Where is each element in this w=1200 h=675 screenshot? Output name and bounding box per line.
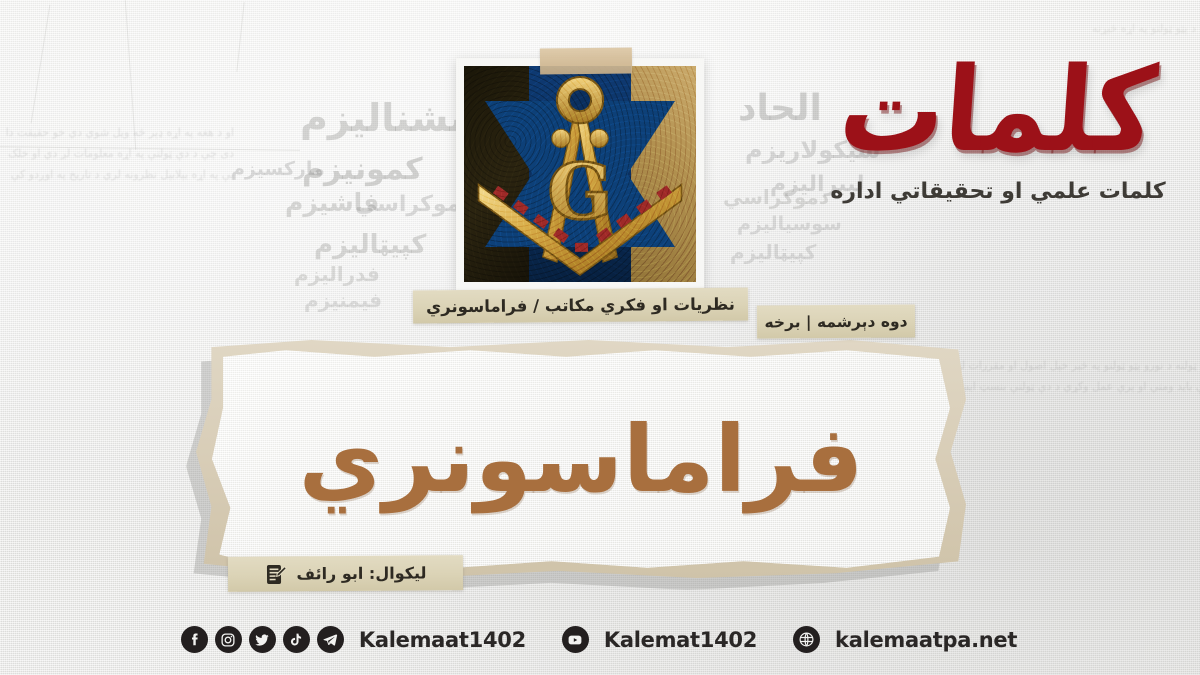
brand-tagline: كلمات علمي او تحقيقاتي اداره	[830, 179, 1165, 204]
watermark-word-left-1: کمونیزم	[302, 152, 423, 187]
watermark-word-left-7: فیمنیزم	[304, 288, 382, 312]
watermark-word-right-5: کپیټالیزم	[730, 240, 816, 264]
part-number-text: دوه دېرشمه | برخه	[764, 312, 907, 331]
paper-scratch-4	[0, 146, 300, 151]
social-bar: Kalemaat1402Kalemat1402kalemaatpa.net	[0, 626, 1200, 653]
brand-logo-mark: كلمات	[836, 49, 1161, 171]
social-handle-0[interactable]: Kalemaat1402	[359, 628, 526, 652]
watermark-word-left-5: کپیټالیزم	[314, 230, 426, 260]
social-group-1: Kalemat1402	[562, 626, 759, 653]
social-handle-1[interactable]: Kalemat1402	[604, 628, 757, 652]
part-number-strip: دوه دېرشمه | برخه	[757, 304, 915, 338]
poster-canvas: او د هغه په اړه ډېر څه ویل شوي دي خو حقی…	[0, 0, 1200, 675]
paper-scratch-1	[31, 5, 51, 124]
paper-scratch-3	[236, 2, 244, 72]
masonic-emblem-photo: G	[456, 58, 704, 290]
subtitle-strip: نظریات او فکري مکاتب / فراماسونري	[413, 288, 748, 324]
telegram-icon[interactable]	[317, 626, 344, 653]
watermark-word-left-0: نشنالیزم	[300, 96, 464, 140]
watermark-word-left-2: مارکسیزم	[231, 158, 325, 180]
masking-tape	[540, 48, 632, 75]
background-ghost-text-topright: د پټو ټولنو په اړه څېړنه	[986, 18, 1196, 39]
page-title: فراماسونري	[212, 348, 950, 570]
tiktok-icon[interactable]	[283, 626, 310, 653]
twitter-icon[interactable]	[249, 626, 276, 653]
background-ghost-text-left: او د هغه په اړه ډېر څه ویل شوي دي خو حقی…	[0, 122, 234, 185]
paper-scratch-2	[125, 0, 136, 150]
watermark-word-right-0: الحاد	[738, 88, 822, 129]
subtitle-text: نظریات او فکري مکاتب / فراماسونري	[426, 295, 735, 317]
watermark-word-left-4: فاشیزم	[285, 188, 379, 217]
instagram-icon[interactable]	[215, 626, 242, 653]
website-globe-icon[interactable]	[793, 626, 820, 653]
social-handle-2[interactable]: kalemaatpa.net	[835, 628, 1017, 652]
page-title-text: فراماسونري	[299, 406, 864, 513]
youtube-icon[interactable]	[562, 626, 589, 653]
facebook-icon[interactable]	[181, 626, 208, 653]
social-group-2: kalemaatpa.net	[793, 626, 1019, 653]
brand-logo-block: كلمات كلمات علمي او تحقيقاتي اداره	[812, 56, 1184, 268]
social-group-0: Kalemaat1402	[181, 626, 528, 653]
watermark-word-left-6: فدرالیزم	[294, 262, 380, 286]
watermark-word-left-3: دموکراسي	[355, 192, 472, 217]
